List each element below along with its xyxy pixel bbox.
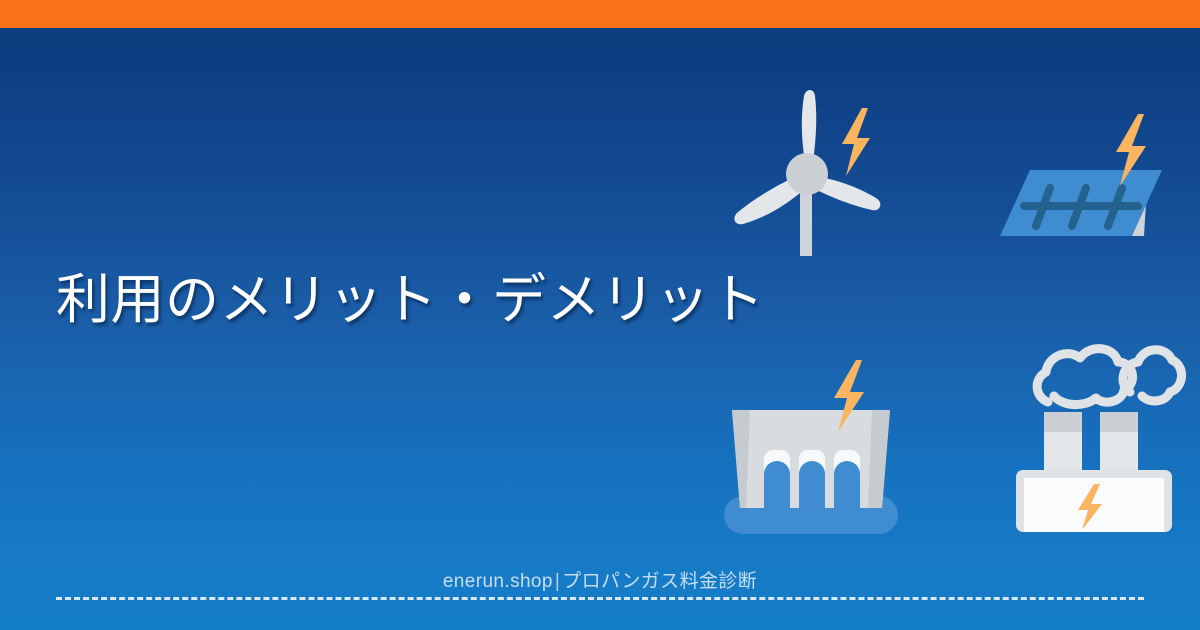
footer: enerun.shop|プロパンガス料金診断 [0, 568, 1200, 596]
solar-panel-icon [986, 108, 1176, 248]
power-plant-icon [1006, 336, 1188, 538]
hero-banner: 利用のメリット・デメリット [0, 0, 1200, 630]
page-title: 利用のメリット・デメリット [56, 268, 756, 332]
hydro-dam-icon [716, 356, 906, 538]
top-accent-bar [0, 0, 1200, 28]
footer-divider [56, 597, 1144, 600]
wind-turbine-icon [716, 86, 896, 256]
footer-tagline: プロパンガス料金診断 [562, 571, 757, 592]
footer-separator: | [553, 571, 562, 592]
footer-site: enerun.shop [443, 571, 553, 592]
footer-text: enerun.shop|プロパンガス料金診断 [443, 568, 757, 596]
